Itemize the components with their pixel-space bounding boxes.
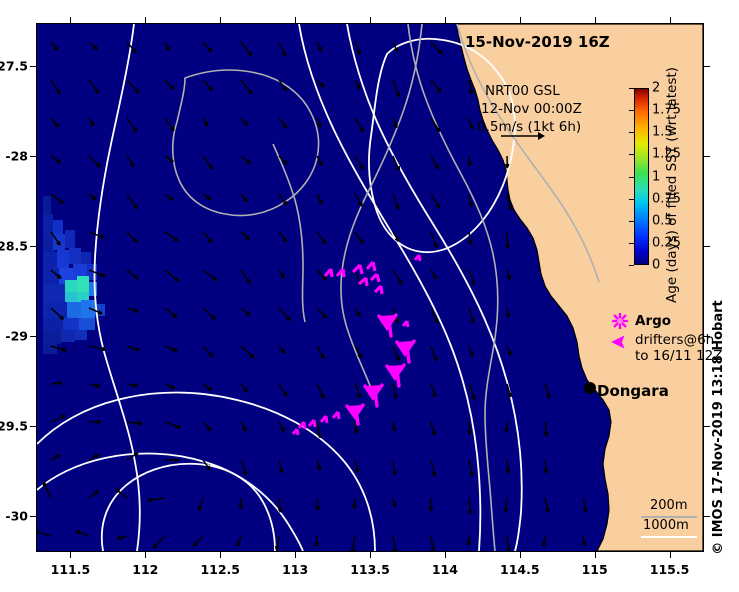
colorbar-tick [629,243,634,244]
x-tick-label: 113 [282,562,308,577]
x-tick-label: 114.5 [500,562,540,577]
x-tick-top [145,17,146,23]
y-tick [30,426,36,427]
x-tick [670,552,671,558]
colorbar-tick-label: 0 [652,258,660,273]
plot-title-date: 15-Nov-2019 16Z [465,33,610,51]
y-tick-label: -27.5 [0,59,28,74]
x-tick-top [670,17,671,23]
y-tick [30,516,36,517]
colorbar-tick [629,199,634,200]
colorbar-tick [629,177,634,178]
x-tick [445,552,446,558]
x-tick-top [220,17,221,23]
y-tick-label: -28.5 [0,239,28,254]
legend-drifter-label-line1: drifters@6h [635,332,714,348]
x-tick-top [595,17,596,23]
x-tick-top [520,17,521,23]
colorbar-tick [629,265,634,266]
y-tick-label: -29 [5,329,28,344]
x-tick [70,552,71,558]
argo-star-marker-icon [611,312,629,330]
x-tick [520,552,521,558]
y-tick-right [704,246,710,247]
scalebar-200m-label: 200m [650,498,687,513]
y-tick-label: -28 [5,149,28,164]
x-tick [295,552,296,558]
legend-argo-label: Argo [635,313,671,329]
x-tick-top [295,17,296,23]
x-tick [595,552,596,558]
x-tick-top [70,17,71,23]
y-tick-label: -30 [5,509,28,524]
x-tick-label: 112 [132,562,158,577]
x-tick-top [445,17,446,23]
copyright-credit: © IMOS 17-Nov-2019 13:18 Hobart [711,300,726,555]
x-tick-label: 115 [582,562,608,577]
x-tick-top [370,17,371,23]
scalebar-1000m-line [641,536,697,538]
x-tick [145,552,146,558]
colorbar-axis-label: Age (days) of filled SST (wrt latest) [664,67,680,303]
dongara-city-marker-icon [582,380,598,396]
y-tick [30,336,36,337]
colorbar-tick-label: 2 [652,81,660,96]
colorbar-tick-label: 1 [652,169,660,184]
y-tick-right [704,516,710,517]
y-tick [30,66,36,67]
y-tick-right [704,426,710,427]
y-tick [30,156,36,157]
x-tick-label: 113.5 [350,562,390,577]
y-tick-right [704,156,710,157]
x-tick-label: 112.5 [200,562,240,577]
annotation-model-time: 12-Nov 00:00Z [481,101,582,117]
scalebar-1000m-label: 1000m [643,518,689,533]
x-tick-label: 111.5 [51,562,91,577]
colorbar-tick [629,88,634,89]
colorbar-tick [629,110,634,111]
colorbar-gradient [634,88,649,265]
velocity-scale-arrow-icon [500,129,546,143]
colorbar-tick [629,154,634,155]
map-canvas [37,24,703,551]
figure-root: 111.5112112.5113113.5114114.5115115.5 -2… [0,0,739,592]
legend-drifter-label-line2: to 16/11 12Z [635,348,722,364]
y-tick [30,246,36,247]
x-tick [370,552,371,558]
place-label-dongara: Dongara [597,382,669,400]
y-tick-right [704,66,710,67]
map-plot-area[interactable] [36,23,704,552]
x-tick-label: 114 [432,562,458,577]
x-tick [220,552,221,558]
colorbar-tick [629,132,634,133]
x-tick-label: 115.5 [650,562,690,577]
drifter-arrow-marker-icon [611,334,629,350]
y-tick-label: -29.5 [0,419,28,434]
annotation-model-name: NRT00 GSL [485,83,560,99]
colorbar-tick [629,221,634,222]
